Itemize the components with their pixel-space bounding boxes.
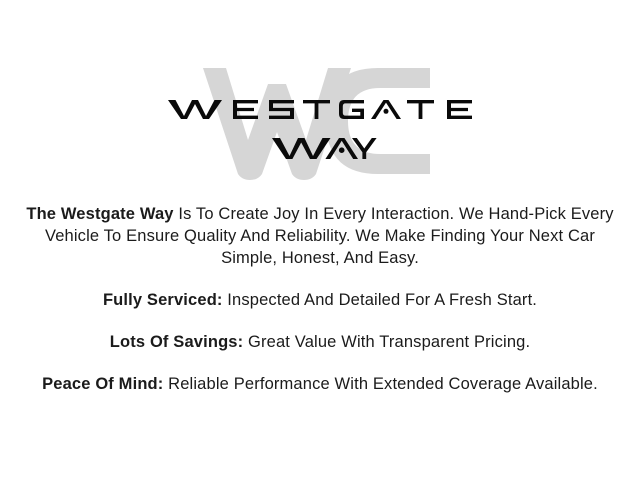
paragraph-intro-lead: The Westgate Way (26, 205, 173, 223)
paragraph-lots-of-savings: Lots Of Savings: Great Value With Transp… (20, 331, 620, 353)
paragraph-fully-serviced-lead: Fully Serviced: (103, 291, 223, 309)
paragraph-lots-of-savings-lead: Lots Of Savings: (110, 333, 244, 351)
westgate-way-copy: The Westgate Way Is To Create Joy In Eve… (20, 203, 620, 395)
paragraph-lots-of-savings-text: Great Value With Transparent Pricing. (243, 333, 530, 351)
paragraph-fully-serviced-text: Inspected And Detailed For A Fresh Start… (223, 291, 537, 309)
paragraph-peace-of-mind: Peace Of Mind: Reliable Performance With… (20, 373, 620, 395)
paragraph-fully-serviced: Fully Serviced: Inspected And Detailed F… (20, 289, 620, 311)
westgate-way-panel: The Westgate Way Is To Create Joy In Eve… (0, 0, 640, 480)
paragraph-peace-of-mind-lead: Peace Of Mind: (42, 375, 163, 393)
paragraph-intro: The Westgate Way Is To Create Joy In Eve… (20, 203, 620, 269)
westgate-way-wordmark-icon (0, 0, 640, 185)
paragraph-peace-of-mind-text: Reliable Performance With Extended Cover… (163, 375, 597, 393)
logo-block (0, 0, 640, 185)
